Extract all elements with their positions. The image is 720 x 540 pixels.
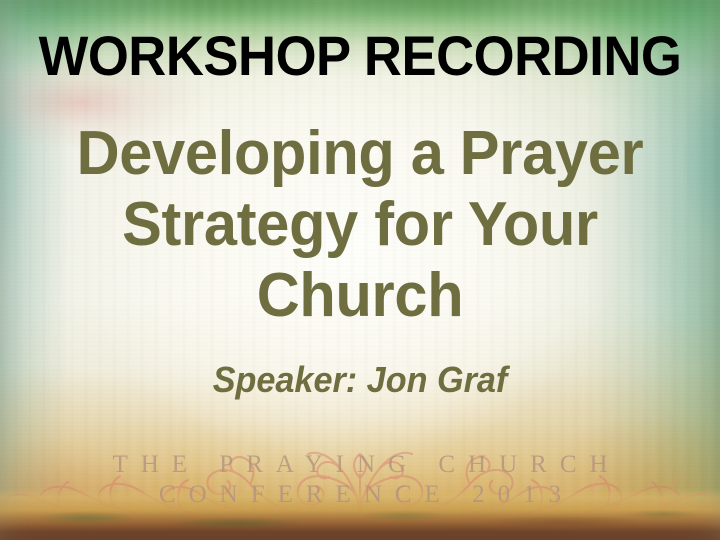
presentation-slide: WORKSHOP RECORDING Developing a Prayer S…: [0, 0, 720, 540]
conference-year-line: CONFERENCE 2013: [0, 480, 720, 510]
conference-branding: THE PRAYING CHURCH CONFERENCE 2013: [0, 450, 720, 510]
slide-title: Developing a Prayer Strategy for Your Ch…: [14, 118, 705, 331]
speaker-label: Speaker: Jon Graf: [18, 360, 702, 400]
slide-title-line-2: Strategy for Your: [14, 189, 705, 260]
slide-content: WORKSHOP RECORDING Developing a Prayer S…: [0, 0, 720, 540]
slide-title-line-1: Developing a Prayer: [14, 118, 705, 189]
kicker-label: WORKSHOP RECORDING: [22, 27, 699, 85]
slide-title-line-3: Church: [14, 260, 705, 331]
conference-name-line: THE PRAYING CHURCH: [0, 450, 720, 480]
